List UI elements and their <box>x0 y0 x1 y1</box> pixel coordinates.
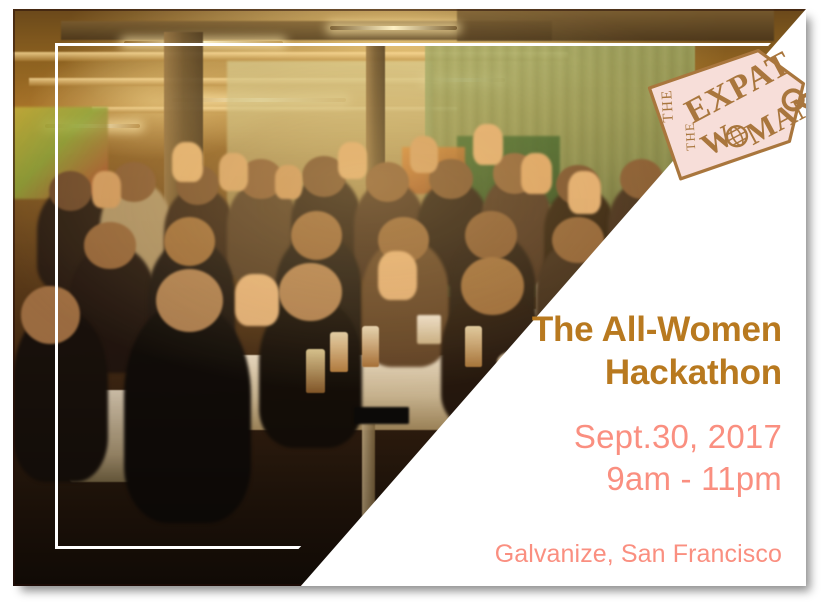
event-flyer-card: THE EXPAT THE W MAN The All-Women Hackat… <box>13 9 806 586</box>
person-head <box>711 240 774 298</box>
tag-text-the-1: THE <box>659 88 677 122</box>
tag-text-the-2: THE <box>682 122 698 152</box>
event-time: 9am - 11pm <box>352 458 782 500</box>
event-date-time: Sept.30, 2017 9am - 11pm <box>352 416 782 499</box>
person-head <box>624 257 687 315</box>
title-line-2: Hackathon <box>352 352 782 395</box>
page-title: The All-Women Hackathon <box>352 309 782 394</box>
event-venue: Galvanize, San Francisco <box>352 540 782 569</box>
event-date: Sept.30, 2017 <box>352 416 782 458</box>
event-details: The All-Women Hackathon Sept.30, 2017 9a… <box>352 309 782 569</box>
title-line-1: The All-Women <box>352 309 782 352</box>
flyer-canvas: THE EXPAT THE W MAN The All-Women Hackat… <box>0 0 829 603</box>
raised-hand <box>711 263 755 315</box>
person <box>671 188 742 292</box>
person-head <box>639 211 695 263</box>
